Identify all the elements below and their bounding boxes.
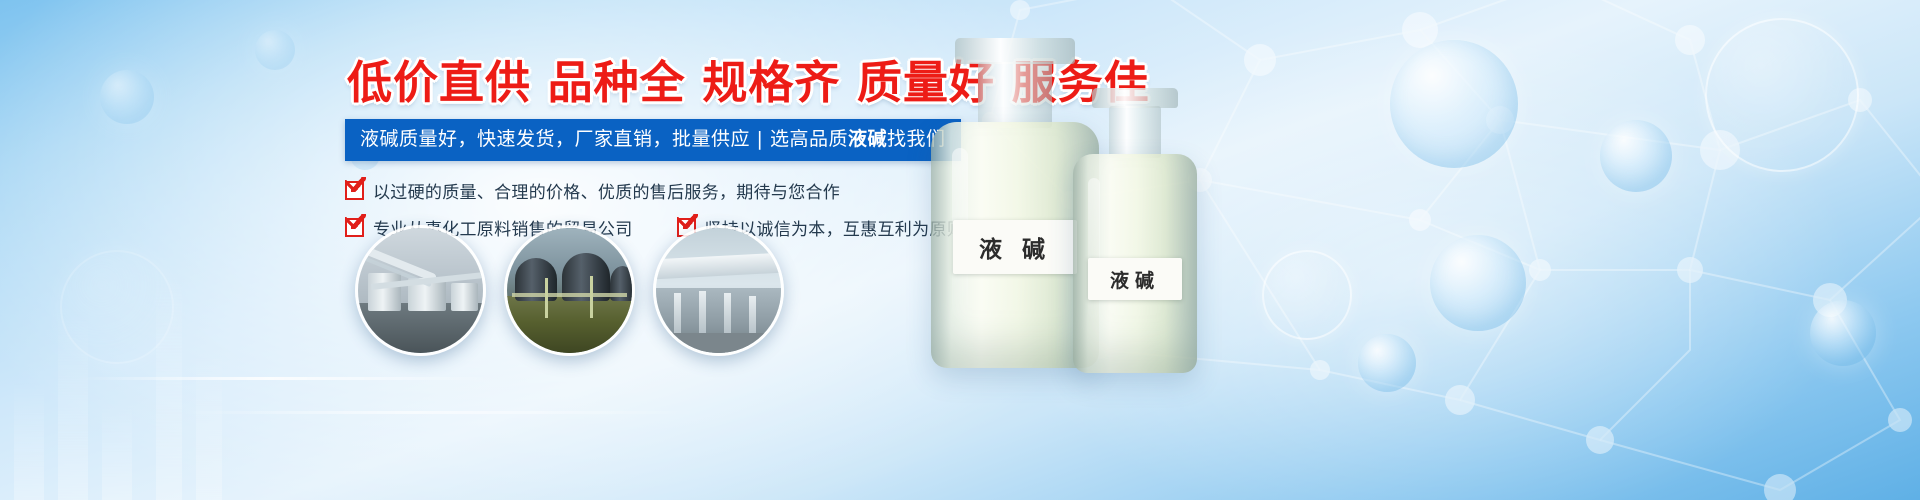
- bottle-cap: [1092, 88, 1178, 108]
- checkmark-icon: [345, 181, 364, 200]
- swoosh-line: [80, 377, 500, 380]
- vertical-bar-decoration: [0, 170, 330, 500]
- bullet-label: 以过硬的质量、合理的价格、优质的售后服务，期待与您合作: [373, 178, 840, 203]
- photo-storage-tanks[interactable]: [355, 225, 486, 356]
- subtitle-highlight: 液碱: [848, 128, 887, 150]
- bottle-label: 液碱: [1088, 258, 1182, 300]
- product-bottles: 液 碱 液碱: [900, 0, 1260, 500]
- photo-chemical-tanks[interactable]: [504, 225, 635, 356]
- bottle-label: 液 碱: [953, 220, 1077, 274]
- bottle-neck: [1109, 106, 1161, 158]
- bottle-neck: [978, 62, 1052, 128]
- photo-thumbnails: [355, 225, 784, 356]
- bottle-cap: [955, 38, 1075, 64]
- subtitle-text-before: 液碱质量好，快速发货，厂家直销，批量供应 | 选高品质: [360, 128, 848, 150]
- photo-factory-building[interactable]: [653, 225, 784, 356]
- swoosh-line: [180, 411, 700, 414]
- product-banner: 低价直供 品种全 规格齐 质量好 服务佳 液碱质量好，快速发货，厂家直销，批量供…: [0, 0, 1920, 500]
- list-item: 以过硬的质量、合理的价格、优质的售后服务，期待与您合作: [345, 178, 840, 203]
- bottle-small: 液碱: [1070, 88, 1200, 373]
- subtitle-bar: 液碱质量好，快速发货，厂家直销，批量供应 | 选高品质液碱找我们: [345, 119, 961, 161]
